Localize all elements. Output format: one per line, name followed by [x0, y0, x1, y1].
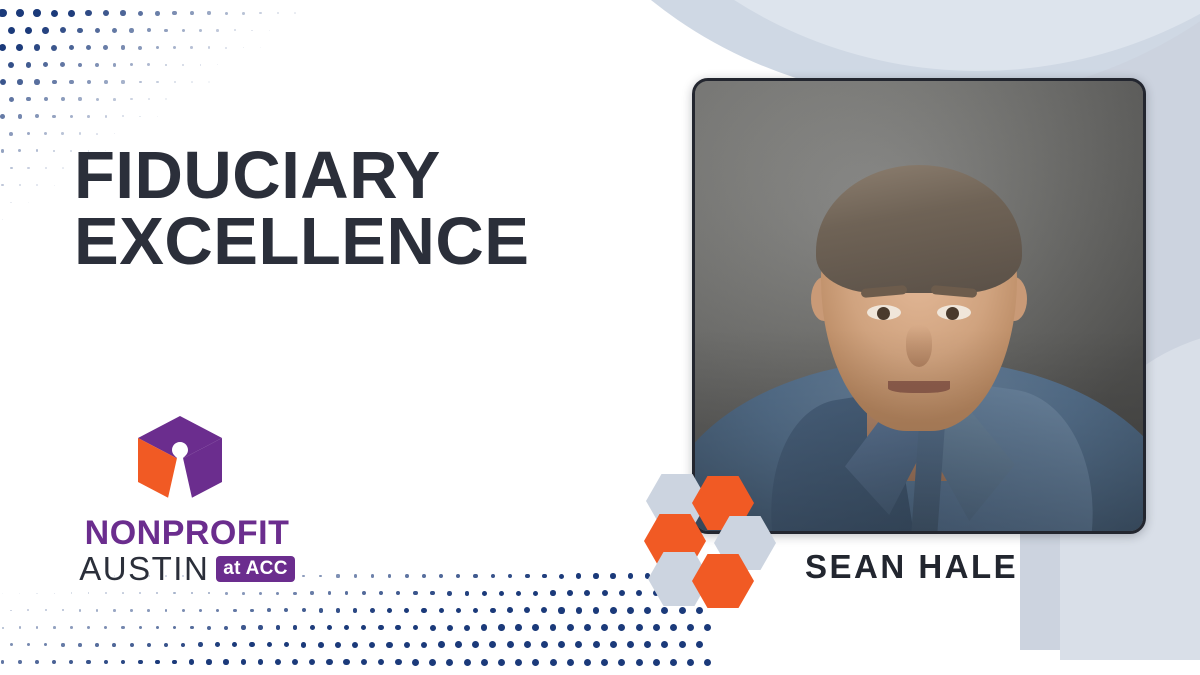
dot — [301, 642, 306, 647]
dot — [558, 607, 564, 613]
dot — [532, 624, 539, 631]
dot — [216, 609, 219, 612]
dot — [421, 642, 428, 649]
dot — [130, 63, 133, 66]
dot — [138, 660, 143, 665]
dot — [62, 609, 64, 611]
dot — [404, 608, 409, 613]
dot — [593, 641, 600, 648]
dot — [369, 642, 375, 648]
dot — [36, 184, 38, 186]
dot — [627, 607, 634, 614]
dot — [173, 46, 176, 49]
dot — [87, 626, 90, 629]
dot — [62, 167, 64, 169]
dot — [491, 574, 495, 578]
dot — [386, 642, 392, 648]
dot — [464, 659, 471, 666]
dot — [87, 115, 90, 118]
speaker-headshot — [692, 78, 1146, 534]
dot — [584, 659, 591, 666]
dot — [86, 660, 90, 664]
dot — [206, 659, 211, 664]
dot — [421, 608, 426, 613]
dot — [173, 592, 175, 594]
dot — [43, 62, 48, 67]
dot — [455, 641, 462, 648]
dot — [114, 133, 115, 134]
dot — [558, 641, 565, 648]
dot — [105, 592, 107, 594]
dot — [627, 641, 634, 648]
dot — [113, 98, 116, 101]
dot — [575, 641, 582, 648]
dot — [155, 660, 160, 665]
dot — [189, 659, 194, 664]
dot — [249, 642, 254, 647]
dot — [113, 63, 117, 67]
dot — [26, 62, 32, 68]
dot — [319, 608, 323, 612]
dot — [172, 11, 176, 15]
dot — [319, 575, 322, 578]
dot — [687, 624, 694, 631]
dot — [696, 607, 703, 614]
dot — [567, 659, 574, 666]
dot — [362, 591, 366, 595]
dot — [156, 592, 158, 594]
dot — [447, 625, 453, 631]
dot — [0, 44, 6, 51]
dot — [576, 607, 582, 613]
headline-line-2: EXCELLENCE — [74, 209, 674, 275]
dot — [121, 45, 125, 49]
dot — [275, 659, 281, 665]
dot — [104, 626, 107, 629]
dot — [550, 624, 557, 631]
dot — [628, 573, 634, 579]
dot — [250, 609, 254, 613]
dot — [225, 592, 228, 595]
dot — [670, 624, 677, 631]
dot — [10, 643, 13, 646]
dot — [276, 592, 279, 595]
dot — [95, 28, 100, 33]
dot — [200, 64, 202, 66]
headshot-vignette — [695, 81, 1143, 531]
dot — [96, 133, 98, 135]
dot — [53, 626, 56, 629]
event-banner: FIDUCIARY EXCELLENCE NONPROFIT AUSTIN at… — [0, 0, 1200, 675]
logo-wordmark-austin: AUSTIN — [79, 552, 209, 585]
dot — [456, 574, 460, 578]
dot — [267, 642, 272, 647]
dot — [481, 624, 487, 630]
dot — [60, 62, 65, 67]
dot — [35, 114, 39, 118]
dot — [44, 643, 47, 646]
dot — [103, 10, 109, 16]
dot — [370, 608, 375, 613]
dot — [164, 29, 168, 33]
dot — [430, 591, 434, 595]
dot — [292, 659, 298, 665]
logo-wordmark-bottom-row: AUSTIN at ACC — [62, 552, 312, 585]
dot — [139, 116, 141, 118]
dot — [704, 659, 711, 666]
dot — [559, 574, 564, 579]
dot — [670, 659, 677, 666]
dot — [343, 659, 349, 665]
dot — [473, 608, 479, 614]
dot — [412, 659, 419, 666]
dot — [465, 591, 470, 596]
dot — [52, 115, 56, 119]
dot — [207, 11, 210, 14]
dot — [1, 184, 4, 187]
dot — [208, 592, 211, 595]
dot — [36, 593, 37, 594]
dot — [260, 47, 261, 48]
dot — [225, 47, 227, 49]
dot — [516, 591, 521, 596]
dot — [413, 591, 417, 595]
dot — [644, 641, 651, 648]
dot — [584, 624, 591, 631]
dot — [310, 591, 313, 594]
dot — [439, 608, 444, 613]
dot — [96, 98, 99, 101]
dot — [191, 592, 193, 594]
dot — [181, 643, 185, 647]
dot — [618, 659, 625, 666]
dot — [335, 642, 341, 648]
dot — [79, 132, 81, 134]
dot — [422, 574, 426, 578]
dot — [507, 641, 514, 648]
dot — [336, 574, 339, 577]
dot — [532, 659, 539, 666]
dot — [481, 659, 488, 666]
dot — [584, 590, 590, 596]
dot — [395, 625, 401, 631]
dot — [19, 184, 21, 186]
dot — [284, 642, 289, 647]
dot — [576, 573, 581, 578]
dot — [44, 132, 47, 135]
dot — [10, 167, 13, 170]
dot — [9, 97, 14, 102]
dot — [515, 624, 522, 631]
dot — [8, 62, 14, 68]
dot — [95, 63, 99, 67]
dot — [28, 202, 29, 203]
dot — [121, 660, 126, 665]
dot — [104, 660, 108, 664]
dot — [293, 592, 296, 595]
dot — [610, 607, 617, 614]
dot — [429, 659, 436, 666]
dot — [464, 625, 470, 631]
dot — [9, 132, 13, 136]
dot — [602, 590, 608, 596]
dot — [302, 608, 306, 612]
dot — [36, 626, 38, 628]
dot — [636, 624, 643, 631]
dot — [86, 45, 91, 50]
page-title: FIDUCIARY EXCELLENCE — [74, 143, 674, 276]
dot — [199, 609, 202, 612]
dot — [593, 607, 600, 614]
dot — [173, 626, 177, 630]
dot — [567, 590, 573, 596]
dot — [27, 167, 29, 169]
dot — [10, 202, 12, 204]
dot — [482, 591, 487, 596]
dot — [78, 97, 81, 100]
dot — [498, 659, 505, 666]
dot — [309, 659, 315, 665]
dot — [524, 641, 531, 648]
dot — [139, 626, 142, 629]
dot — [619, 590, 625, 596]
dot — [387, 608, 392, 613]
dot — [190, 46, 193, 49]
dot — [456, 608, 461, 613]
dot — [138, 11, 143, 16]
dot — [199, 29, 202, 32]
dot — [472, 641, 479, 648]
dot — [525, 574, 530, 579]
dot — [207, 626, 211, 630]
dot — [661, 607, 668, 614]
dot — [284, 608, 288, 612]
dot — [122, 592, 124, 594]
dot — [446, 659, 453, 666]
dot — [61, 132, 64, 135]
dot — [499, 591, 504, 596]
headline-line-1: FIDUCIARY — [74, 138, 441, 213]
dot — [326, 659, 332, 665]
dot — [147, 28, 151, 32]
speaker-name: SEAN HALE — [805, 548, 1018, 586]
dot — [379, 591, 383, 595]
dot — [277, 12, 279, 14]
dot — [191, 81, 193, 83]
dot — [294, 12, 296, 14]
dot — [259, 12, 261, 14]
dot — [542, 574, 547, 579]
dot — [524, 607, 530, 613]
dot — [550, 659, 557, 666]
dot — [79, 609, 81, 611]
dot — [636, 590, 642, 596]
dot — [61, 643, 64, 646]
dot — [105, 115, 107, 117]
dot — [216, 29, 219, 32]
dot — [258, 625, 262, 629]
dot — [241, 625, 245, 629]
dot — [515, 659, 522, 666]
dot — [234, 29, 236, 31]
dot — [378, 625, 383, 630]
dot — [438, 641, 445, 648]
dot — [687, 659, 694, 666]
dot — [550, 590, 556, 596]
dot — [36, 149, 39, 152]
dot — [208, 46, 210, 48]
dot — [610, 573, 615, 578]
dot — [430, 625, 436, 631]
dot — [112, 28, 117, 33]
dot — [618, 624, 625, 631]
dot — [103, 45, 108, 50]
dot — [644, 607, 651, 614]
dot — [636, 659, 643, 666]
dot — [233, 609, 237, 613]
dot — [653, 624, 660, 631]
dot — [396, 591, 400, 595]
dot — [507, 607, 513, 613]
dot — [704, 624, 711, 631]
dot — [51, 10, 58, 17]
dot — [198, 642, 203, 647]
logo-wordmark: NONPROFIT AUSTIN at ACC — [62, 516, 312, 585]
dot — [129, 28, 133, 32]
dot — [113, 609, 116, 612]
dot — [0, 114, 5, 119]
dot — [601, 659, 608, 666]
dot — [344, 625, 349, 630]
dot — [71, 592, 72, 593]
dot — [395, 659, 402, 666]
dot — [52, 80, 57, 85]
dot — [182, 609, 185, 612]
dot — [16, 44, 23, 51]
dot — [215, 642, 220, 647]
dot — [269, 30, 270, 31]
dot — [224, 626, 228, 630]
dot — [661, 641, 668, 648]
dot — [69, 660, 73, 664]
dot — [52, 660, 56, 664]
dot — [328, 591, 332, 595]
dot — [156, 81, 158, 83]
dot — [473, 574, 477, 578]
dot — [439, 574, 443, 578]
dot — [241, 659, 247, 665]
dot — [34, 44, 40, 50]
dot — [70, 150, 72, 152]
dot — [27, 643, 30, 646]
logo-badge-at-acc: at ACC — [216, 556, 294, 582]
dot — [1, 660, 5, 664]
dot — [447, 591, 452, 596]
dot — [225, 12, 228, 15]
dot — [157, 116, 158, 117]
dot — [327, 625, 332, 630]
dot — [104, 80, 108, 84]
dot — [243, 47, 245, 49]
dot — [121, 626, 124, 629]
dot — [130, 609, 133, 612]
dot — [679, 641, 686, 648]
dot — [147, 643, 151, 647]
dot — [601, 624, 608, 631]
dot — [130, 643, 134, 647]
dot — [259, 592, 262, 595]
dot — [388, 574, 392, 578]
dot — [147, 63, 150, 66]
dot — [353, 608, 358, 613]
dot — [0, 9, 7, 17]
dot — [165, 64, 168, 67]
dot — [54, 593, 55, 594]
dot — [87, 80, 91, 84]
hexagon-cluster-decoration — [644, 474, 776, 600]
dot — [68, 10, 75, 17]
dot — [593, 573, 598, 578]
logo-wordmark-top: NONPROFIT — [62, 516, 312, 550]
nonprofit-austin-cube-icon — [132, 412, 228, 508]
dot — [164, 643, 168, 647]
dot — [541, 607, 547, 613]
dot — [130, 98, 132, 100]
dot — [2, 627, 4, 629]
dot — [112, 643, 116, 647]
dot — [182, 64, 184, 66]
dot — [60, 27, 66, 33]
dot — [26, 97, 31, 102]
dot — [27, 132, 30, 135]
dot — [489, 641, 496, 648]
nonprofit-austin-logo: NONPROFIT AUSTIN at ACC — [62, 412, 312, 585]
dot — [148, 98, 150, 100]
dot — [267, 608, 271, 612]
dot — [85, 10, 91, 16]
dot — [88, 592, 90, 594]
dot — [95, 643, 99, 647]
dot — [147, 609, 150, 612]
dot — [42, 27, 48, 33]
dot — [18, 114, 22, 118]
dot — [174, 81, 176, 83]
dot — [361, 659, 368, 666]
dot — [293, 625, 298, 630]
dot — [679, 607, 686, 614]
dot — [318, 642, 324, 648]
dot — [208, 81, 209, 82]
dot — [45, 167, 47, 169]
dot — [165, 98, 166, 99]
dot — [44, 97, 48, 101]
dot — [1, 149, 5, 153]
dot — [96, 609, 98, 611]
dot — [70, 115, 73, 118]
dot — [567, 624, 574, 631]
dot — [258, 659, 264, 665]
dot — [165, 609, 168, 612]
dot — [490, 608, 496, 614]
dot — [371, 574, 374, 577]
dot — [0, 79, 6, 85]
dot — [18, 660, 22, 664]
dot — [78, 63, 83, 68]
dot — [155, 11, 160, 16]
dot — [653, 659, 660, 666]
dot — [2, 593, 3, 594]
dot — [182, 29, 185, 32]
